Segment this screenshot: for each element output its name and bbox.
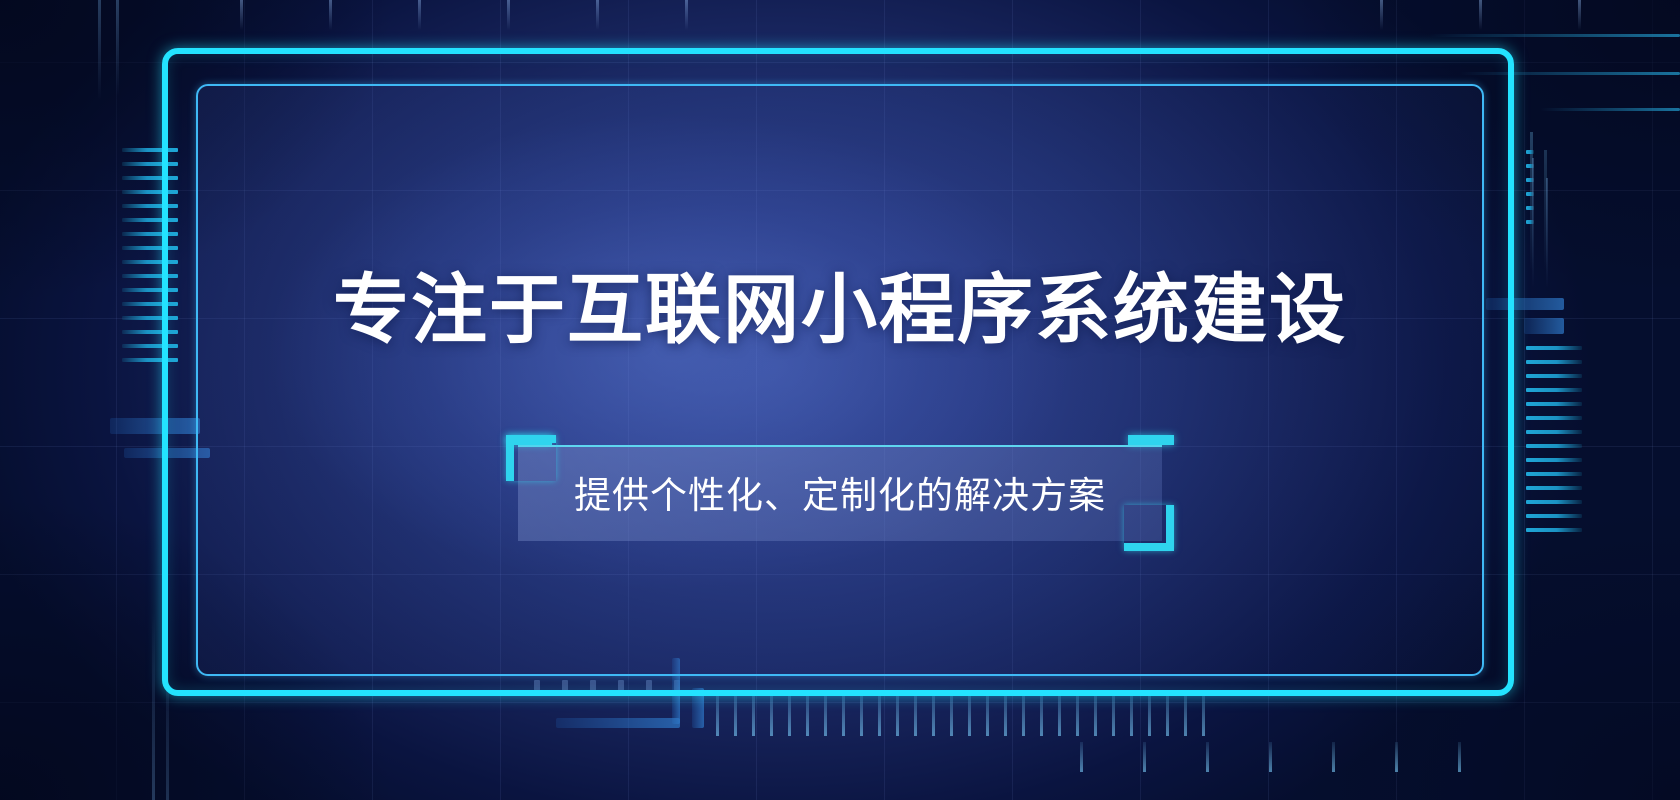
banner-subtitle: 提供个性化、定制化的解决方案 <box>518 445 1162 541</box>
subtitle-bracket-nub-right <box>1128 435 1174 445</box>
hero-banner: 专注于互联网小程序系统建设 提供个性化、定制化的解决方案 <box>0 0 1680 800</box>
banner-content: 专注于互联网小程序系统建设 提供个性化、定制化的解决方案 <box>0 0 1680 800</box>
banner-title: 专注于互联网小程序系统建设 <box>333 273 1347 349</box>
subtitle-block: 提供个性化、定制化的解决方案 <box>518 445 1162 541</box>
